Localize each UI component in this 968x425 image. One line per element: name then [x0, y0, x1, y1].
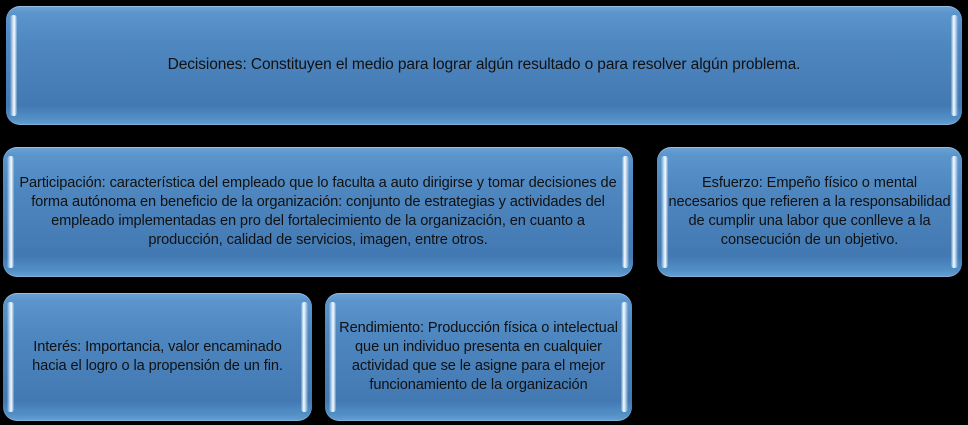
diagram-node-esfuerzo[interactable]: Esfuerzo: Empeño físico o mental necesar… — [657, 147, 962, 277]
diagram-node-esfuerzo-label: Esfuerzo: Empeño físico o mental necesar… — [657, 174, 962, 250]
diagram-node-interes-label: Interés: Importancia, valor encaminado h… — [3, 338, 312, 376]
diagram-node-rendimiento[interactable]: Rendimiento: Producción física o intelec… — [325, 293, 632, 421]
diagram-node-rendimiento-label: Rendimiento: Producción física o intelec… — [325, 319, 632, 395]
diagram-node-decisiones-label: Decisiones: Constituyen el medio para lo… — [128, 55, 841, 75]
diagram-node-decisiones[interactable]: Decisiones: Constituyen el medio para lo… — [6, 6, 962, 125]
diagram-node-participacion[interactable]: Participación: característica del emplea… — [3, 147, 633, 277]
diagram-canvas: Decisiones: Constituyen el medio para lo… — [0, 0, 968, 425]
diagram-node-interes[interactable]: Interés: Importancia, valor encaminado h… — [3, 293, 312, 421]
diagram-node-participacion-label: Participación: característica del emplea… — [3, 174, 633, 250]
